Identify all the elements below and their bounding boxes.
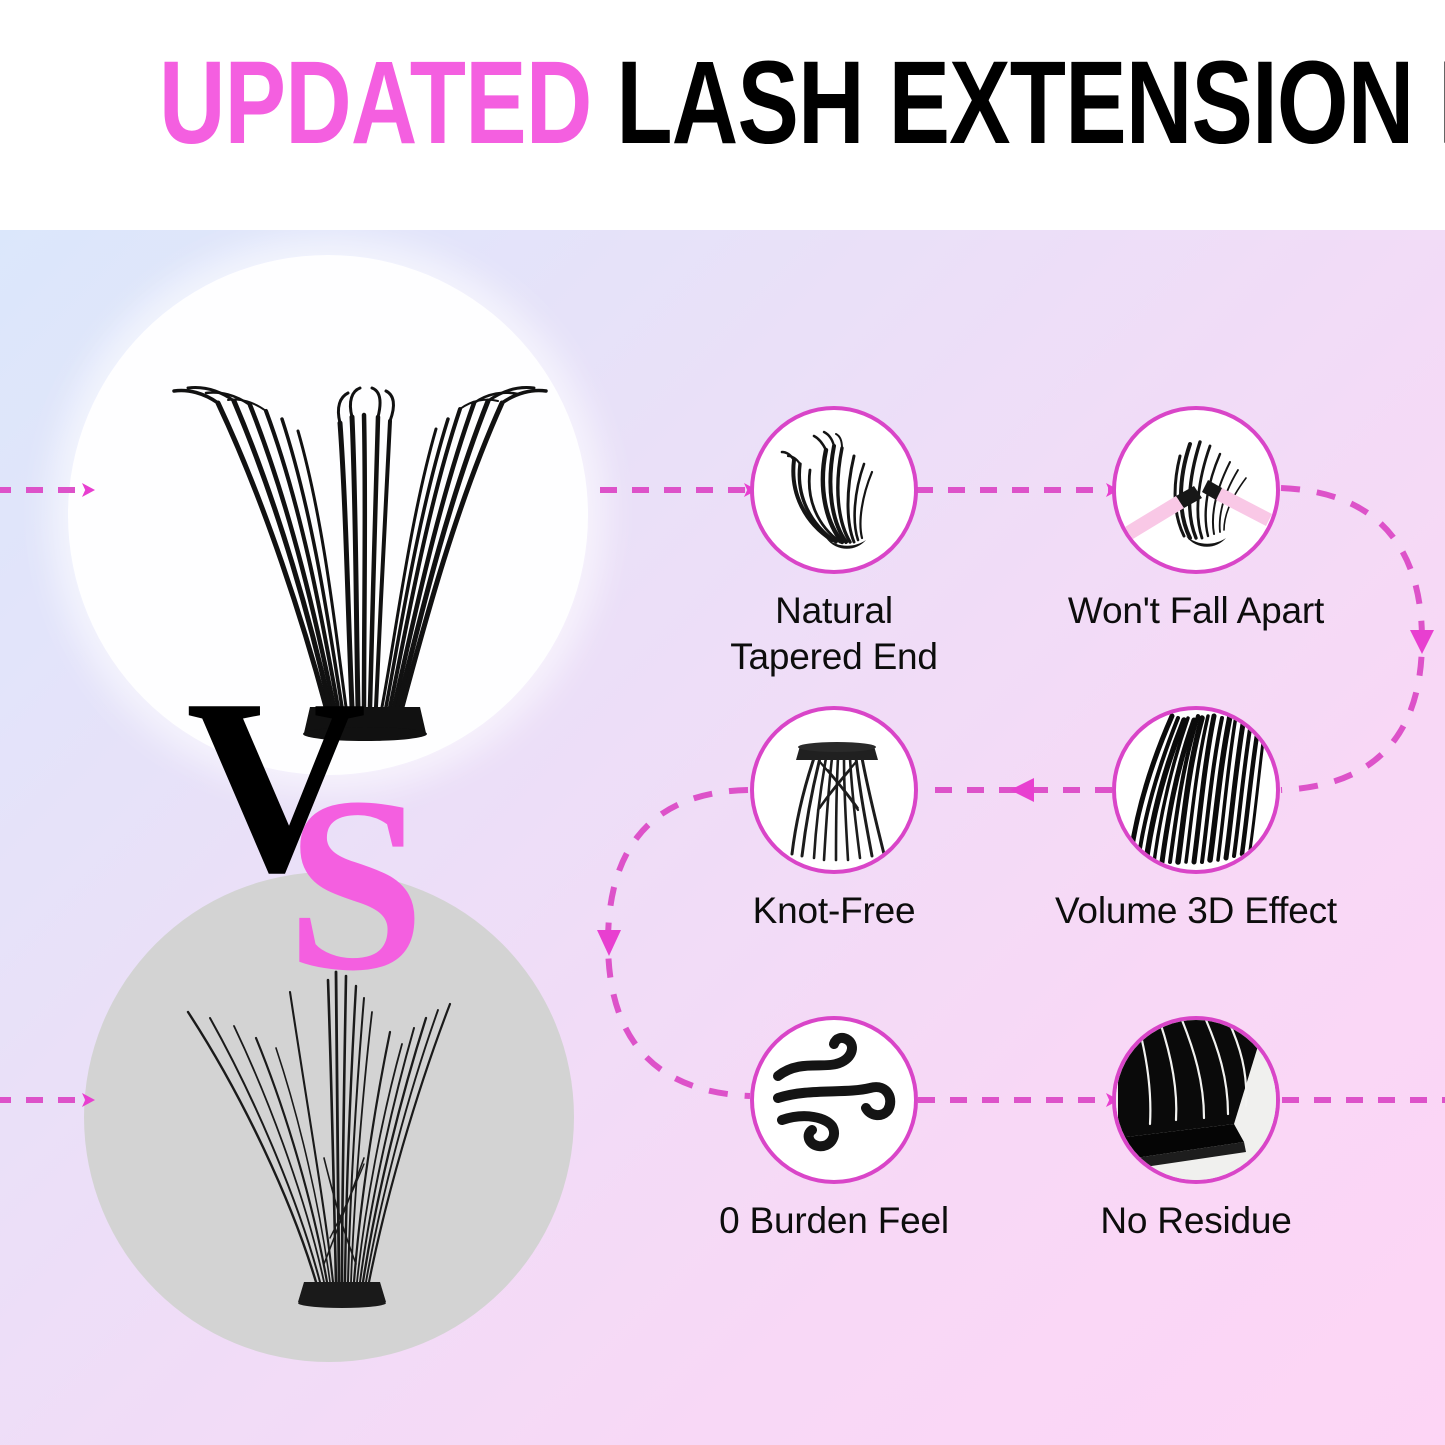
feature-circle-no-residue	[1112, 1016, 1280, 1184]
content-canvas: V S	[0, 230, 1445, 1445]
feature-knot-free[interactable]: Knot-Free	[684, 706, 984, 934]
clean-lash-strip-icon	[1116, 1020, 1276, 1180]
feature-circle-volume-3d-effect	[1112, 706, 1280, 874]
feature-label-line1: Natural	[684, 588, 984, 634]
feature-natural-tapered-end[interactable]: Natural Tapered End	[684, 406, 984, 680]
dense-lash-strands-icon	[1116, 710, 1276, 870]
feature-label-line1: No Residue	[1046, 1198, 1346, 1244]
feature-circle-knot-free	[750, 706, 918, 874]
feature-circle-0-burden-feel	[750, 1016, 918, 1184]
feature-circle-natural-tapered-end	[750, 406, 918, 574]
curved-lash-fan-icon	[754, 410, 914, 570]
feature-label-wont-fall-apart: Won't Fall Apart	[1046, 588, 1346, 634]
feature-label-no-residue: No Residue	[1046, 1198, 1346, 1244]
feature-label-volume-3d-effect: Volume 3D Effect	[1046, 888, 1346, 934]
feature-circle-wont-fall-apart	[1112, 406, 1280, 574]
feature-label-line1: Won't Fall Apart	[1046, 588, 1346, 634]
feature-label-line1: Volume 3D Effect	[1046, 888, 1346, 934]
tweezers-pulling-lash-icon	[1116, 410, 1276, 570]
lash-band-strands-icon	[754, 710, 914, 870]
product-circle-updated	[68, 255, 588, 775]
updated-lash-fiber-cluster-icon	[68, 255, 588, 775]
infographic-page: UPDATED LASH EXTENSION FIBERS	[0, 0, 1445, 1445]
feature-wont-fall-apart[interactable]: Won't Fall Apart	[1046, 406, 1346, 634]
product-circle-old	[84, 872, 574, 1362]
title-pink-word: UPDATED	[159, 37, 592, 169]
header-band: UPDATED LASH EXTENSION FIBERS	[0, 0, 1445, 230]
feature-no-residue[interactable]: No Residue	[1046, 1016, 1346, 1244]
feature-label-0-burden-feel: 0 Burden Feel	[684, 1198, 984, 1244]
title-black-text: LASH EXTENSION FIBERS	[616, 37, 1445, 169]
feature-label-line1: Knot-Free	[684, 888, 984, 934]
feature-label-natural-tapered-end: Natural Tapered End	[684, 588, 984, 680]
feature-0-burden-feel[interactable]: 0 Burden Feel	[684, 1016, 984, 1244]
page-title: UPDATED LASH EXTENSION FIBERS	[159, 44, 1286, 162]
feature-label-line2: Tapered End	[684, 634, 984, 680]
old-lash-fiber-cluster-icon	[84, 872, 574, 1362]
feature-label-line1: 0 Burden Feel	[684, 1198, 984, 1244]
feature-volume-3d-effect[interactable]: Volume 3D Effect	[1046, 706, 1346, 934]
feature-label-knot-free: Knot-Free	[684, 888, 984, 934]
wind-breeze-icon	[754, 1020, 914, 1180]
